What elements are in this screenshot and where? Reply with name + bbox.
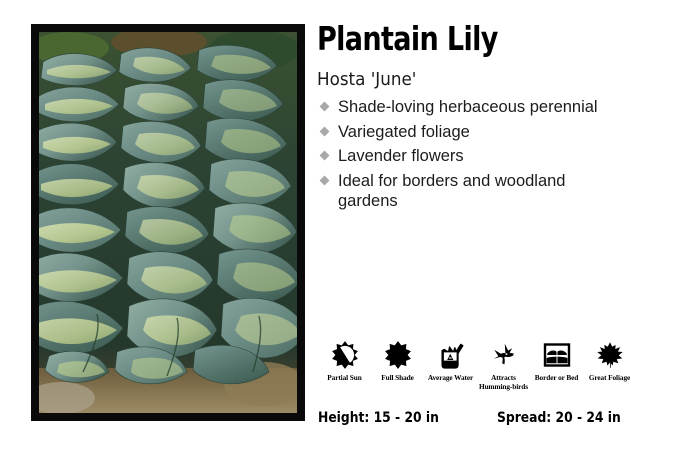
spread-label: Spread: 20 - 24 in	[497, 408, 621, 428]
average-water-icon	[436, 340, 466, 370]
attribute-border-or-bed: Border or Bed	[530, 340, 583, 382]
list-item-label: Ideal for borders and woodland gardens	[338, 172, 566, 211]
attribute-label: Partial Sun	[327, 373, 361, 382]
plant-info-panel: Plantain Lily Hosta 'June' Shade-loving …	[316, 0, 692, 461]
partial-sun-icon	[330, 340, 360, 370]
attribute-great-foliage: Great Foliage	[583, 340, 636, 382]
attribute-label: Full Shade	[381, 373, 413, 382]
plant-tag: Plantain Lily Hosta 'June' Shade-loving …	[0, 0, 692, 461]
attribute-icon-row: Partial Sun Full Shade	[318, 340, 640, 391]
attribute-average-water: Average Water	[424, 340, 477, 382]
border-or-bed-icon	[542, 340, 572, 370]
plant-photo-frame	[31, 24, 305, 421]
attribute-partial-sun: Partial Sun	[318, 340, 371, 382]
attribute-attracts-hummingbirds: Attracts Humming-birds	[477, 340, 530, 391]
diamond-bullet-icon	[320, 151, 330, 161]
attracts-hummingbirds-icon	[489, 340, 519, 370]
full-shade-icon	[383, 340, 413, 370]
list-item: Ideal for borders and woodland gardens	[316, 171, 616, 212]
height-label: Height: 15 - 20 in	[318, 408, 439, 428]
list-item: Shade-loving herbaceous perennial	[316, 97, 616, 118]
list-item: Lavender flowers	[316, 146, 616, 167]
attribute-label: Border or Bed	[535, 373, 578, 382]
great-foliage-icon	[595, 340, 625, 370]
attribute-label: Attracts Humming-birds	[477, 373, 530, 391]
feature-list: Shade-loving herbaceous perennial Varieg…	[316, 97, 616, 247]
page-title: Plantain Lily	[317, 22, 498, 56]
attribute-label: Great Foliage	[589, 373, 630, 382]
diamond-bullet-icon	[320, 175, 330, 185]
attribute-label: Average Water	[428, 373, 473, 382]
list-item-label: Lavender flowers	[338, 147, 464, 165]
list-item-label: Variegated foliage	[338, 123, 470, 141]
dimension-row: Height: 15 - 20 in Spread: 20 - 24 in	[318, 408, 658, 432]
botanical-name: Hosta 'June'	[317, 69, 416, 91]
diamond-bullet-icon	[320, 102, 330, 112]
list-item-label: Shade-loving herbaceous perennial	[338, 98, 598, 116]
list-item: Variegated foliage	[316, 122, 616, 143]
attribute-full-shade: Full Shade	[371, 340, 424, 382]
diamond-bullet-icon	[320, 126, 330, 136]
plant-photo	[39, 32, 297, 413]
